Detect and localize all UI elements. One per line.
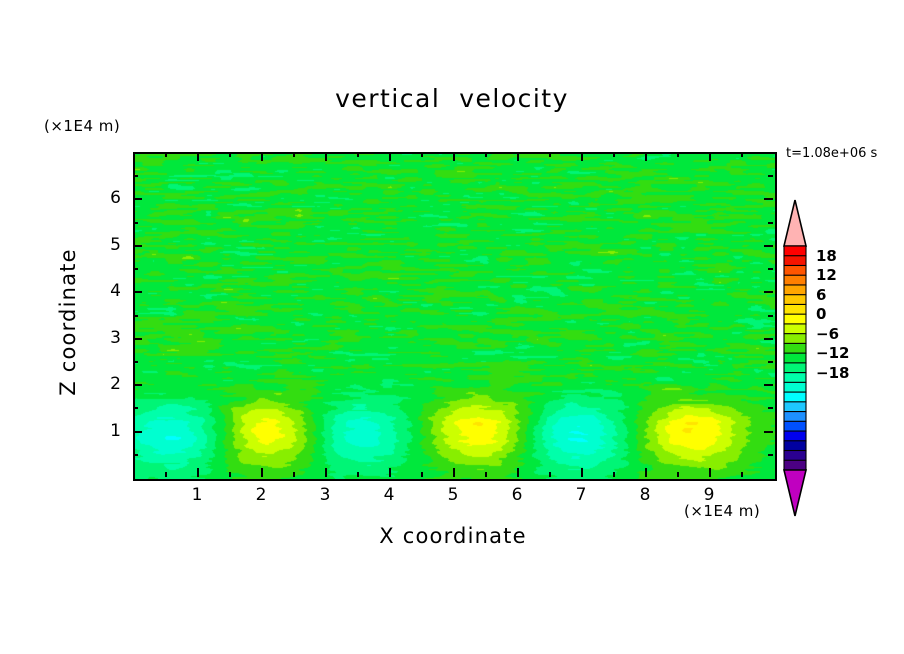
z-major-tick (764, 338, 773, 340)
z-minor-tick (133, 315, 138, 317)
x-minor-tick (421, 472, 423, 477)
colorbar-tick-label: −12 (816, 344, 849, 362)
colorbar-band (784, 402, 806, 412)
z-tick-label: 2 (81, 374, 121, 394)
z-axis-unit-label: (×1E4 m) (44, 117, 120, 135)
x-tick-label: 4 (369, 485, 409, 505)
x-major-tick (709, 468, 711, 477)
x-major-tick (517, 468, 519, 477)
colorbar-band (784, 285, 806, 295)
x-minor-tick (357, 152, 359, 157)
colorbar-band (784, 431, 806, 441)
colorbar-band (784, 265, 806, 275)
x-minor-tick (677, 472, 679, 477)
vertical-velocity-field (135, 154, 775, 479)
x-minor-tick (421, 152, 423, 157)
x-minor-tick (741, 472, 743, 477)
x-minor-tick (485, 472, 487, 477)
colorbar-tick-label: −6 (816, 325, 839, 343)
x-minor-tick (613, 152, 615, 157)
x-minor-tick (229, 472, 231, 477)
z-tick-label: 1 (81, 421, 121, 441)
z-major-tick (133, 198, 142, 200)
z-minor-tick (133, 407, 138, 409)
colorbar-under-arrow (784, 470, 806, 516)
x-major-tick (645, 152, 647, 161)
x-major-tick (261, 152, 263, 161)
colorbar-band (784, 373, 806, 383)
z-minor-tick (133, 454, 138, 456)
z-minor-tick (133, 222, 138, 224)
z-minor-tick (768, 454, 773, 456)
colorbar-band (784, 275, 806, 285)
z-minor-tick (768, 361, 773, 363)
colorbar-band (784, 324, 806, 334)
x-tick-label: 3 (305, 485, 345, 505)
page-title: vertical velocity (0, 84, 904, 113)
x-major-tick (325, 152, 327, 161)
colorbar-over-arrow (784, 200, 806, 246)
colorbar-swatches (780, 198, 810, 518)
z-tick-label: 6 (81, 188, 121, 208)
z-major-tick (764, 384, 773, 386)
x-minor-tick (549, 472, 551, 477)
z-minor-tick (133, 361, 138, 363)
x-tick-label: 1 (177, 485, 217, 505)
x-minor-tick (165, 472, 167, 477)
colorbar-band (784, 441, 806, 451)
x-major-tick (453, 468, 455, 477)
colorbar-tick-label: −18 (816, 364, 849, 382)
x-tick-label: 9 (689, 485, 729, 505)
colorbar-band (784, 412, 806, 422)
colorbar-band (784, 295, 806, 305)
colorbar-band (784, 334, 806, 344)
z-major-tick (764, 291, 773, 293)
z-minor-tick (768, 268, 773, 270)
x-tick-label: 5 (433, 485, 473, 505)
colorbar-tick-label: 0 (816, 305, 826, 323)
x-major-tick (709, 152, 711, 161)
z-minor-tick (133, 175, 138, 177)
x-major-tick (453, 152, 455, 161)
x-minor-tick (741, 152, 743, 157)
z-tick-label: 3 (81, 328, 121, 348)
colorbar-tick-label: 12 (816, 266, 837, 284)
colorbar-band (784, 353, 806, 363)
x-minor-tick (485, 152, 487, 157)
z-tick-label: 5 (81, 235, 121, 255)
z-tick-label: 4 (81, 281, 121, 301)
colorbar-tick-label: 6 (816, 286, 826, 304)
colorbar-band (784, 314, 806, 324)
colorbar-band (784, 392, 806, 402)
x-major-tick (645, 468, 647, 477)
x-tick-label: 8 (625, 485, 665, 505)
z-minor-tick (768, 222, 773, 224)
x-minor-tick (293, 472, 295, 477)
x-tick-label: 6 (497, 485, 537, 505)
x-major-tick (389, 152, 391, 161)
colorbar-band (784, 256, 806, 266)
colorbar-band (784, 304, 806, 314)
colorbar-band (784, 460, 806, 470)
x-minor-tick (549, 152, 551, 157)
colorbar-band (784, 343, 806, 353)
x-major-tick (389, 468, 391, 477)
x-major-tick (261, 468, 263, 477)
colorbar-tick-label: 18 (816, 247, 837, 265)
z-major-tick (133, 431, 142, 433)
x-minor-tick (677, 152, 679, 157)
z-major-tick (133, 245, 142, 247)
z-major-tick (133, 338, 142, 340)
colorbar-band (784, 382, 806, 392)
x-minor-tick (613, 472, 615, 477)
z-minor-tick (133, 268, 138, 270)
colorbar (780, 198, 810, 518)
x-major-tick (197, 152, 199, 161)
x-major-tick (581, 468, 583, 477)
z-minor-tick (768, 315, 773, 317)
x-minor-tick (229, 152, 231, 157)
z-major-tick (764, 431, 773, 433)
x-major-tick (325, 468, 327, 477)
x-minor-tick (293, 152, 295, 157)
x-major-tick (581, 152, 583, 161)
x-major-tick (197, 468, 199, 477)
x-minor-tick (357, 472, 359, 477)
x-tick-label: 7 (561, 485, 601, 505)
time-stamp-annotation: t=1.08e+06 s (786, 146, 877, 161)
z-minor-tick (768, 407, 773, 409)
z-major-tick (764, 245, 773, 247)
z-major-tick (133, 291, 142, 293)
x-axis-title: X coordinate (233, 524, 673, 548)
y-axis-title: Z coordinate (56, 207, 80, 437)
x-tick-label: 2 (241, 485, 281, 505)
colorbar-band (784, 421, 806, 431)
colorbar-band (784, 363, 806, 373)
contour-plot-area (133, 152, 777, 481)
figure-canvas: vertical velocity (×1E4 m) (×1E4 m) t=1.… (0, 0, 904, 654)
x-minor-tick (165, 152, 167, 157)
x-major-tick (517, 152, 519, 161)
z-major-tick (764, 198, 773, 200)
z-minor-tick (768, 175, 773, 177)
z-major-tick (133, 384, 142, 386)
colorbar-band (784, 451, 806, 461)
colorbar-band (784, 246, 806, 256)
